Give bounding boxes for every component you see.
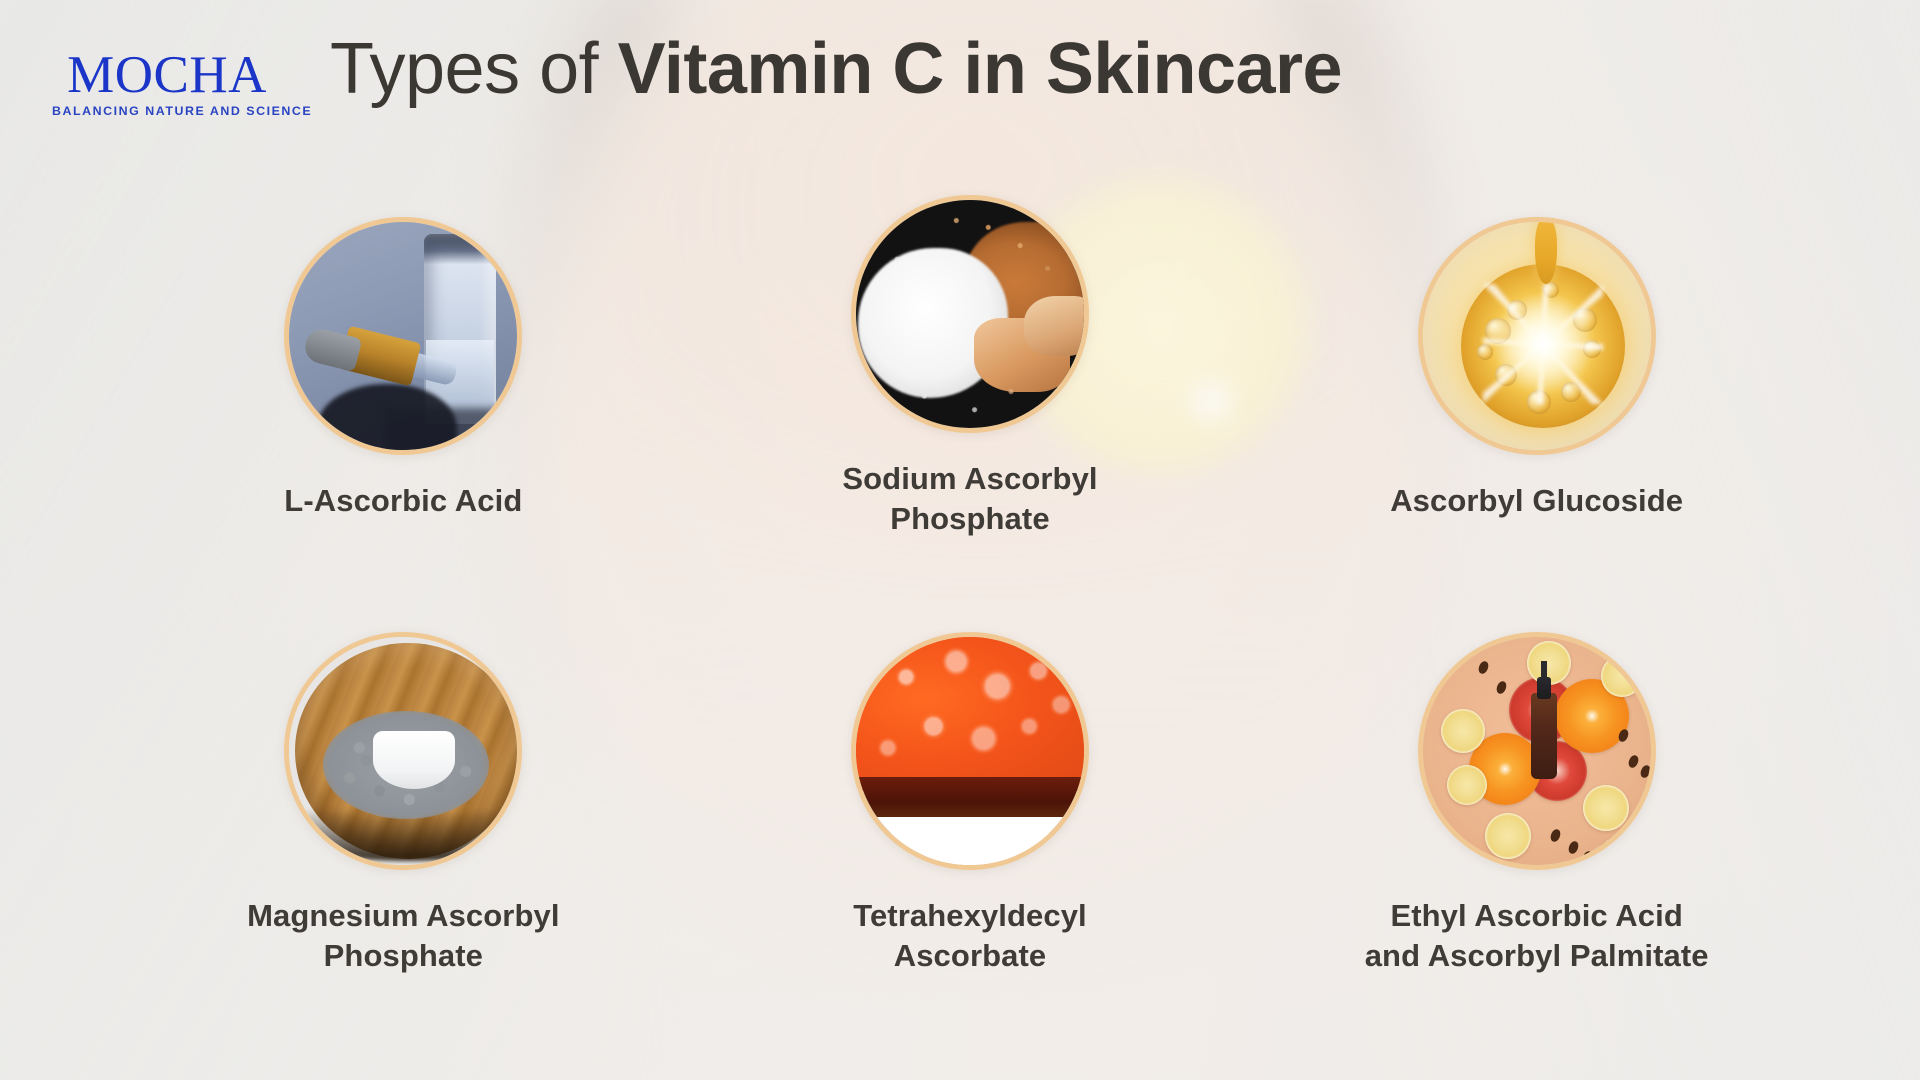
- ingredient-card-magnesium-ascorbyl-phosphate[interactable]: Magnesium Ascorbyl Phosphate: [120, 610, 687, 1025]
- ingredient-image-circle: [851, 632, 1089, 870]
- brand-name: MOCHA: [52, 50, 282, 101]
- page-title-light: Types of: [330, 29, 618, 109]
- citrus-plate-icon: [1423, 637, 1651, 865]
- ingredient-image-circle: [851, 195, 1089, 433]
- page-title: Types of Vitamin C in Skincare: [330, 32, 1650, 108]
- ingredient-label: Sodium Ascorbyl Phosphate: [842, 459, 1097, 538]
- ingredient-label: Ascorbyl Glucoside: [1390, 481, 1683, 521]
- ingredient-image-circle: [1418, 217, 1656, 455]
- golden-droplet-icon: [1423, 222, 1651, 450]
- ingredient-label: Magnesium Ascorbyl Phosphate: [247, 896, 559, 975]
- orange-droplets-icon: [856, 637, 1084, 865]
- powder-crystals-icon: [856, 200, 1084, 428]
- ingredient-label: L-Ascorbic Acid: [284, 481, 522, 521]
- mineral-bowl-icon: [289, 637, 517, 865]
- ingredient-grid: L-Ascorbic Acid Sodium Ascorbyl Phosphat…: [120, 195, 1820, 1025]
- ingredient-image-circle: [1418, 632, 1656, 870]
- ingredient-card-ascorbyl-glucoside[interactable]: Ascorbyl Glucoside: [1253, 195, 1820, 610]
- brand-tagline: BALANCING NATURE AND SCIENCE: [52, 104, 282, 118]
- ingredient-label: Tetrahexyldecyl Ascorbate: [853, 896, 1087, 975]
- ingredient-card-ethyl-ascorbic-acid[interactable]: Ethyl Ascorbic Acid and Ascorbyl Palmita…: [1253, 610, 1820, 1025]
- ingredient-image-circle: [284, 217, 522, 455]
- ingredient-label: Ethyl Ascorbic Acid and Ascorbyl Palmita…: [1365, 896, 1709, 975]
- infographic-slide: MOCHA BALANCING NATURE AND SCIENCE Types…: [0, 0, 1920, 1080]
- ingredient-card-l-ascorbic-acid[interactable]: L-Ascorbic Acid: [120, 195, 687, 610]
- ingredient-image-circle: [284, 632, 522, 870]
- page-title-bold: Vitamin C in Skincare: [618, 29, 1342, 109]
- ingredient-card-tetrahexyldecyl-ascorbate[interactable]: Tetrahexyldecyl Ascorbate: [687, 610, 1254, 1025]
- dropper-vial-icon: [289, 222, 517, 450]
- ingredient-card-sodium-ascorbyl-phosphate[interactable]: Sodium Ascorbyl Phosphate: [687, 195, 1254, 610]
- brand-logo[interactable]: MOCHA BALANCING NATURE AND SCIENCE: [52, 50, 282, 118]
